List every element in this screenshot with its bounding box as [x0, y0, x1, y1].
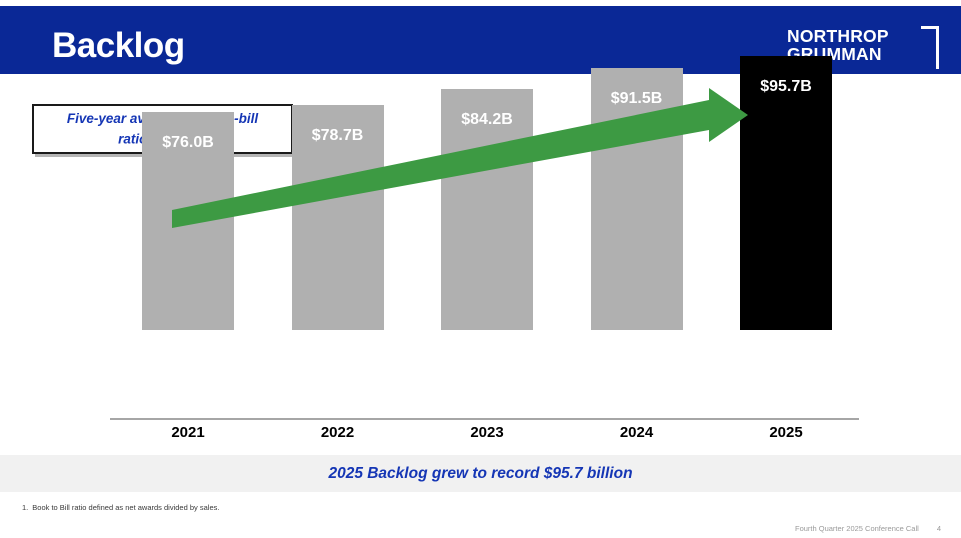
bar-label-2021: $76.0B [142, 134, 234, 152]
bar-label-2024: $91.5B [591, 90, 683, 108]
slide: Backlog NORTHROP GRUMMAN Five-year avera… [0, 0, 961, 538]
bar-2022[interactable]: $78.7B [292, 105, 384, 330]
bar-2024[interactable]: $91.5B [591, 68, 683, 330]
category-label-2023: 2023 [441, 424, 533, 441]
deck-name: Fourth Quarter 2025 Conference Call [795, 524, 919, 533]
footer-summary-text: 2025 Backlog grew to record $95.7 billio… [328, 465, 632, 483]
bar-label-2025: $95.7B [740, 78, 832, 96]
category-label-2022: 2022 [292, 424, 384, 441]
bar-2021[interactable]: $76.0B [142, 112, 234, 330]
footnote: 1.Book to Bill ratio defined as net awar… [22, 503, 219, 512]
category-label-2024: 2024 [591, 424, 683, 441]
backlog-bar-chart: $76.0B $78.7B $84.2B $91.5B $95.7B 2021 … [0, 0, 961, 450]
bar-2023[interactable]: $84.2B [441, 89, 533, 330]
footnote-number: 1. [22, 503, 28, 512]
category-label-2021: 2021 [142, 424, 234, 441]
page-number: 4 [937, 524, 941, 533]
chart-axis-line [110, 418, 859, 420]
page-meta: Fourth Quarter 2025 Conference Call 4 [795, 524, 941, 533]
footer-summary-band: 2025 Backlog grew to record $95.7 billio… [0, 455, 961, 492]
category-label-2025: 2025 [740, 424, 832, 441]
bar-2025[interactable]: $95.7B [740, 56, 832, 330]
bar-label-2022: $78.7B [292, 127, 384, 145]
bar-label-2023: $84.2B [441, 111, 533, 129]
footnote-text: Book to Bill ratio defined as net awards… [32, 503, 219, 512]
